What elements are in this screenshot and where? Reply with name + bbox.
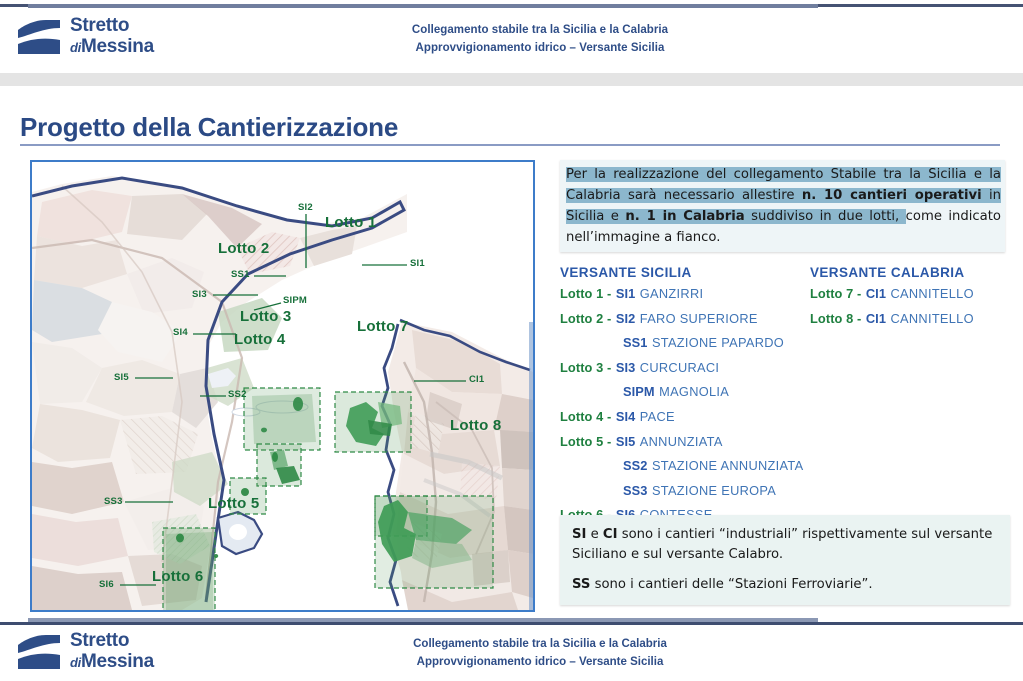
list-item: SS2 STAZIONE ANNUNZIATA	[560, 457, 810, 482]
calabria-column: VERSANTE CALABRIA Lotto 7 - CI1 CANNITEL…	[810, 265, 1010, 334]
intro-bold-2: n. 1 in Calabria	[625, 209, 744, 224]
map-label-ss1: SS1	[231, 269, 250, 280]
list-item: Lotto 4 - SI4 PACE	[560, 408, 810, 433]
map-label-lotto-6: Lotto 6	[152, 568, 203, 585]
page-header: Stretto diMessina Collegamento stabile t…	[0, 8, 1023, 68]
header-subtitle: Collegamento stabile tra la Sicilia e la…	[300, 21, 780, 57]
map-label-lotto-7: Lotto 7	[357, 318, 408, 335]
list-item: Lotto 1 - SI1 GANZIRRI	[560, 285, 810, 310]
sicilia-heading: VERSANTE SICILIA	[560, 265, 810, 280]
footer-divider-accent	[28, 618, 818, 622]
map-label-ci1: CI1	[469, 374, 484, 385]
map-label-lotto-3: Lotto 3	[240, 308, 291, 325]
site-code: SS1	[623, 335, 648, 350]
list-item: SIPM MAGNOLIA	[560, 383, 810, 408]
lotto-label: Lotto 7 -	[810, 286, 861, 301]
bridge-span-logo-icon	[16, 633, 68, 673]
site-place: FARO SUPERIORE	[640, 311, 758, 326]
map-label-lotto-2: Lotto 2	[218, 240, 269, 257]
logo-line-1: Stretto	[70, 16, 180, 36]
header-separator-band	[0, 73, 1023, 86]
list-item: Lotto 8 - CI1 CANNITELLO	[810, 310, 1010, 335]
right-column: Per la realizzazione del collegamento St…	[560, 160, 1005, 252]
list-item: Lotto 3 - SI3 CURCURACI	[560, 359, 810, 384]
site-place: STAZIONE ANNUNZIATA	[652, 458, 803, 473]
map-label-si6: SI6	[99, 579, 114, 590]
site-place: CURCURACI	[640, 360, 719, 375]
site-place: STAZIONE EUROPA	[652, 483, 776, 498]
intro-paragraph: Per la realizzazione del collegamento St…	[566, 164, 1001, 248]
footer-divider	[0, 622, 1023, 625]
site-place: PACE	[640, 409, 675, 424]
list-item: SS1 STAZIONE PAPARDO	[560, 334, 810, 359]
calabria-heading: VERSANTE CALABRIA	[810, 265, 1010, 280]
note-paragraph-1: SI e CI sono i cantieri “industriali” ri…	[572, 525, 998, 564]
site-place: CANNITELLO	[891, 311, 974, 326]
lotto-label: Lotto 4 -	[560, 409, 611, 424]
legend-note-box: SI e CI sono i cantieri “industriali” ri…	[560, 515, 1010, 605]
note-paragraph-2: SS sono i cantieri delle “Stazioni Ferro…	[572, 575, 998, 595]
site-place: ANNUNZIATA	[640, 434, 723, 449]
list-item: SS3 STAZIONE EUROPA	[560, 482, 810, 507]
footer-logo-line-2: diMessina	[70, 651, 180, 673]
map-label-si2: SI2	[298, 202, 313, 213]
footer-subtitle: Collegamento stabile tra la Sicilia e la…	[300, 635, 780, 671]
map-label-lotto-5: Lotto 5	[208, 495, 259, 512]
top-divider	[0, 4, 1023, 7]
footer-subtitle-line-2: Approvvigionamento idrico – Versante Sic…	[300, 653, 780, 671]
header-subtitle-line-2: Approvvigionamento idrico – Versante Sic…	[300, 39, 780, 57]
site-code: SI5	[616, 434, 636, 449]
site-place: CANNITELLO	[891, 286, 974, 301]
site-code: SS2	[623, 458, 648, 473]
lotto-label: Lotto 1 -	[560, 286, 611, 301]
note-bold-si: SI	[572, 527, 586, 542]
list-item: Lotto 5 - SI5 ANNUNZIATA	[560, 433, 810, 458]
page-title: Progetto della Cantierizzazione	[20, 112, 398, 143]
site-code: SI3	[616, 360, 636, 375]
map-label-si1: SI1	[410, 258, 425, 269]
map-label-ss2: SS2	[228, 389, 247, 400]
map-label-ss3: SS3	[104, 496, 123, 507]
footer-logo-line-1: Stretto	[70, 631, 180, 651]
site-code: SS3	[623, 483, 648, 498]
footer-logo-di: di	[70, 655, 81, 670]
logo-messina: Messina	[81, 36, 154, 57]
bridge-span-logo-icon	[16, 18, 68, 58]
footer-subtitle-line-1: Collegamento stabile tra la Sicilia e la…	[300, 635, 780, 653]
site-code: CI1	[866, 311, 886, 326]
map-label-si5: SI5	[114, 372, 129, 383]
map-label-si3: SI3	[192, 289, 207, 300]
map-graphic	[32, 162, 533, 610]
note-text-2: sono i cantieri “industriali” rispettiva…	[572, 527, 992, 562]
map-label-lotto-1: Lotto 1	[325, 214, 376, 231]
map-label-lotto-4: Lotto 4	[234, 331, 285, 348]
sicilia-column: VERSANTE SICILIA Lotto 1 - SI1 GANZIRRI …	[560, 265, 810, 531]
page-footer: Stretto diMessina Collegamento stabile t…	[0, 627, 1023, 681]
list-item: Lotto 2 - SI2 FARO SUPERIORE	[560, 310, 810, 335]
map-label-lotto-8: Lotto 8	[450, 417, 501, 434]
header-logo: Stretto diMessina	[16, 16, 176, 60]
intro-bold-1: n. 10 cantieri operativi	[802, 188, 982, 203]
cantierizzazione-map[interactable]: Lotto 1 Lotto 2 Lotto 3 Lotto 4 Lotto 5 …	[30, 160, 535, 612]
note-text-1: e	[586, 527, 603, 542]
map-label-sipm: SIPM	[283, 295, 307, 306]
header-subtitle-line-1: Collegamento stabile tra la Sicilia e la…	[300, 21, 780, 39]
site-code: SIPM	[623, 384, 655, 399]
page-title-underline	[20, 144, 1000, 146]
intro-text-3: suddiviso in due lotti,	[745, 209, 906, 224]
site-code: SI4	[616, 409, 636, 424]
site-place: GANZIRRI	[640, 286, 704, 301]
lotto-label: Lotto 8 -	[810, 311, 861, 326]
logo-di: di	[70, 40, 81, 55]
site-place: STAZIONE PAPARDO	[652, 335, 784, 350]
list-item: Lotto 7 - CI1 CANNITELLO	[810, 285, 1010, 310]
logo-line-2: diMessina	[70, 36, 180, 58]
site-code: CI1	[866, 286, 886, 301]
note-bold-ci: CI	[603, 527, 618, 542]
site-code: SI1	[616, 286, 636, 301]
footer-logo-messina: Messina	[81, 651, 154, 672]
map-label-si4: SI4	[173, 327, 188, 338]
note-bold-ss: SS	[572, 577, 590, 592]
site-place: MAGNOLIA	[659, 384, 729, 399]
lotto-label: Lotto 2 -	[560, 311, 611, 326]
lotto-label: Lotto 3 -	[560, 360, 611, 375]
intro-callout-box: Per la realizzazione del collegamento St…	[560, 160, 1005, 252]
site-code: SI2	[616, 311, 636, 326]
note-text-3: sono i cantieri delle “Stazioni Ferrovia…	[590, 577, 872, 592]
footer-logo: Stretto diMessina	[16, 631, 176, 675]
lotto-label: Lotto 5 -	[560, 434, 611, 449]
